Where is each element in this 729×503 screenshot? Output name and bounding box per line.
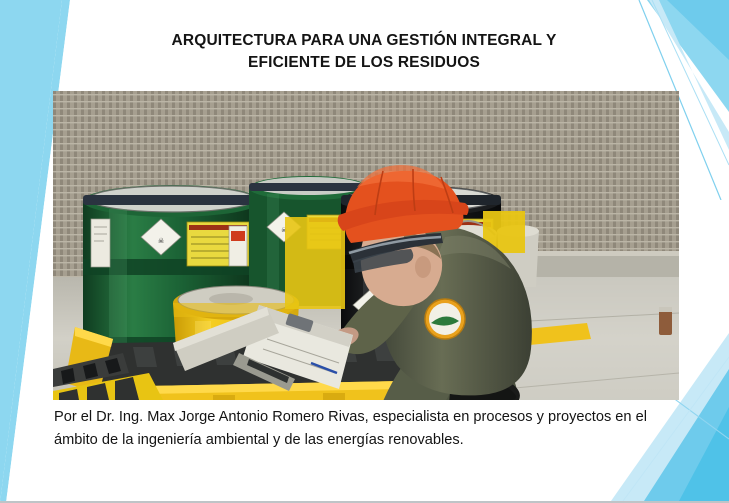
photo-caption: Por el Dr. Ing. Max Jorge Antonio Romero… [54,406,654,451]
title-line-1: ARQUITECTURA PARA UNA GESTIÓN INTEGRAL Y [64,30,664,52]
svg-text:☠: ☠ [158,237,164,245]
page-title: ARQUITECTURA PARA UNA GESTIÓN INTEGRAL Y… [64,30,664,74]
presentation-slide: ARQUITECTURA PARA UNA GESTIÓN INTEGRAL Y… [0,0,729,503]
title-line-2: EFICIENTE DE LOS RESIDUOS [64,52,664,74]
hazardous-waste-photo: ☠ [53,91,679,400]
